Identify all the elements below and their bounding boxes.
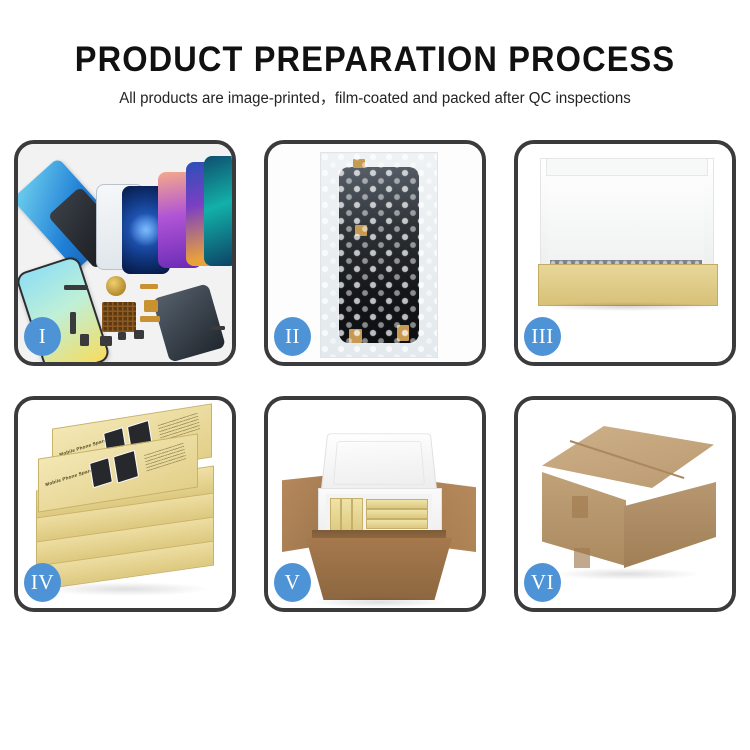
step-badge-3: III	[524, 317, 561, 356]
carton-tape-lower	[574, 548, 590, 568]
box-spec-lines-front	[144, 442, 186, 472]
connector-part	[144, 300, 158, 312]
page-title: PRODUCT PREPARATION PROCESS	[26, 40, 724, 80]
carton-drop-shadow	[310, 596, 448, 608]
kraft-box-tray	[538, 264, 718, 306]
process-step-panel-1: I	[14, 140, 236, 366]
sealed-carton-top	[542, 426, 714, 488]
screwdriver-tool	[211, 326, 225, 330]
process-step-panel-5: V	[264, 396, 486, 612]
page-header: PRODUCT PREPARATION PROCESS All products…	[0, 0, 750, 109]
inner-box-3	[352, 498, 363, 534]
carton-body	[306, 538, 452, 600]
speaker-coil-part	[106, 276, 126, 296]
inner-box-1	[330, 498, 341, 534]
box-lid-top-edge	[546, 158, 708, 176]
inner-box-5	[366, 509, 428, 519]
process-step-panel-4: Mobile Phone Spare Parts Mobile Phone Sp…	[14, 396, 236, 612]
step-badge-6: VI	[524, 563, 561, 602]
sealed-carton-right-face	[624, 482, 716, 568]
box-screen-print-d	[113, 450, 139, 484]
process-step-grid: I II III	[14, 140, 736, 612]
antenna-part	[140, 316, 160, 322]
process-step-panel-3: III	[514, 140, 736, 366]
button-part	[134, 330, 144, 339]
phone-teal-gradient	[204, 156, 232, 266]
bubble-wrap-bag	[320, 152, 438, 358]
process-step-panel-2: II	[264, 140, 486, 366]
step-badge-1: I	[24, 317, 61, 356]
sim-tray-part	[118, 332, 126, 340]
flex-cable-part	[70, 312, 76, 334]
box-drop-shadow	[542, 302, 712, 311]
gold-flex-part	[140, 284, 158, 289]
carton-tape-upper	[572, 496, 588, 518]
earpiece-part	[64, 285, 88, 290]
logic-board-part	[102, 302, 136, 332]
step-badge-4: IV	[24, 563, 61, 602]
foam-cooler-lid	[320, 433, 437, 494]
step-badge-2: II	[274, 317, 311, 356]
stack-drop-shadow	[42, 582, 210, 596]
bubble-texture-overlay	[321, 153, 437, 357]
foam-liner	[548, 180, 704, 266]
process-step-panel-6: VI	[514, 396, 736, 612]
vibrator-part	[100, 336, 112, 346]
step-badge-5: V	[274, 563, 311, 602]
page-subtitle: All products are image-printed，film-coat…	[11, 89, 739, 109]
box-screen-print-c	[89, 457, 113, 488]
camera-module-part	[80, 334, 89, 346]
inner-box-4	[366, 499, 428, 509]
sealed-carton-shadow	[552, 568, 702, 580]
inner-box-2	[341, 498, 352, 534]
phone-rear-housing	[152, 283, 226, 362]
inner-box-6	[366, 519, 428, 529]
